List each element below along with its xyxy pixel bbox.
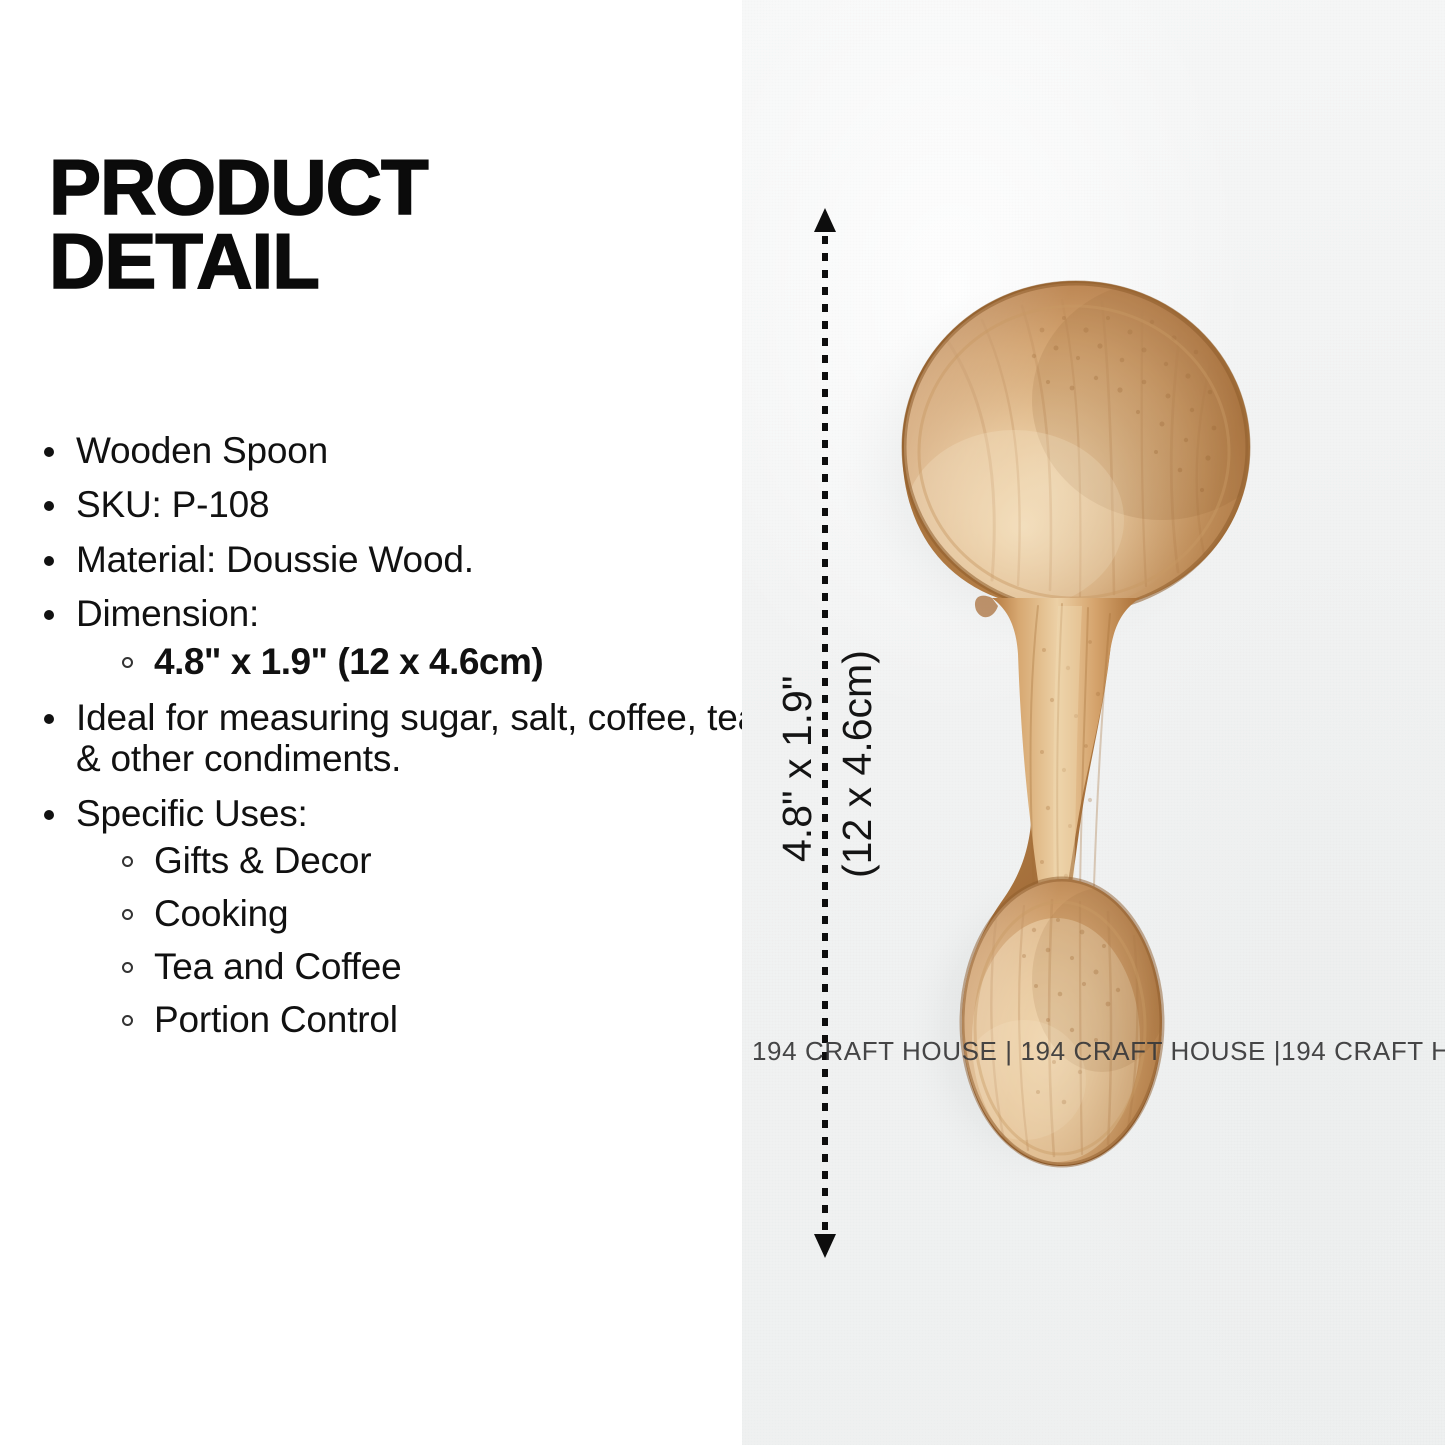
arrow-up-icon: [814, 208, 836, 232]
bullet-disc-icon: [44, 556, 54, 566]
dimension-label-inches: 4.8" x 1.9": [774, 676, 821, 862]
product-spec-list: Wooden Spoon SKU: P-108 Material: Doussi…: [36, 430, 736, 1055]
bullet-disc-icon: [44, 447, 54, 457]
bullet-disc-icon: [44, 714, 54, 724]
list-item-label: Dimension:: [76, 593, 259, 634]
list-item: Ideal for measuring sugar, salt, coffee,…: [36, 697, 736, 780]
bullet-circle-icon: [122, 909, 133, 920]
list-item-label: 4.8" x 1.9" (12 x 4.6cm): [154, 641, 543, 682]
list-item-label: Portion Control: [154, 999, 398, 1040]
list-item: Dimension: 4.8" x 1.9" (12 x 4.6cm): [36, 593, 736, 683]
list-item: Specific Uses: Gifts & Decor Cooking Tea…: [36, 793, 736, 1042]
list-item: Gifts & Decor: [76, 840, 736, 883]
list-item: Cooking: [76, 893, 736, 936]
list-item: SKU: P-108: [36, 484, 736, 525]
dimension-sublist: 4.8" x 1.9" (12 x 4.6cm): [76, 641, 736, 684]
arrow-down-icon: [814, 1234, 836, 1258]
dotted-measure-line: [822, 236, 828, 1236]
specific-uses-sublist: Gifts & Decor Cooking Tea and Coffee Por…: [76, 840, 736, 1042]
list-item-label: Cooking: [154, 893, 288, 934]
list-item-label: Tea and Coffee: [154, 946, 402, 987]
list-item-label: Specific Uses:: [76, 793, 308, 834]
list-item: Tea and Coffee: [76, 946, 736, 989]
page-title: PRODUCT DETAIL: [49, 150, 709, 298]
watermark-text: 194 CRAFT HOUSE | 194 CRAFT HOUSE |194 C…: [752, 1036, 1445, 1067]
list-item-label: Material: Doussie Wood.: [76, 539, 474, 580]
bullet-disc-icon: [44, 810, 54, 820]
list-item-label: Wooden Spoon: [76, 430, 328, 471]
dimension-label-cm: (12 x 4.6cm): [834, 650, 881, 878]
list-item: 4.8" x 1.9" (12 x 4.6cm): [76, 641, 736, 684]
list-item-label: Gifts & Decor: [154, 840, 371, 881]
product-photo-panel: 4.8" x 1.9" (12 x 4.6cm) 194 CRAFT HOUSE…: [742, 0, 1445, 1445]
bullet-circle-icon: [122, 1015, 133, 1026]
list-item: Wooden Spoon: [36, 430, 736, 471]
list-item-label: SKU: P-108: [76, 484, 269, 525]
bullet-circle-icon: [122, 657, 133, 668]
list-item: Material: Doussie Wood.: [36, 539, 736, 580]
list-item-label: Ideal for measuring sugar, salt, coffee,…: [76, 697, 758, 780]
list-item: Portion Control: [76, 999, 736, 1042]
bullet-circle-icon: [122, 856, 133, 867]
product-detail-image: PRODUCT DETAIL Wooden Spoon SKU: P-108 M…: [0, 0, 1445, 1445]
bullet-circle-icon: [122, 962, 133, 973]
bullet-disc-icon: [44, 501, 54, 511]
text-panel: PRODUCT DETAIL Wooden Spoon SKU: P-108 M…: [0, 0, 742, 1445]
bullet-disc-icon: [44, 610, 54, 620]
